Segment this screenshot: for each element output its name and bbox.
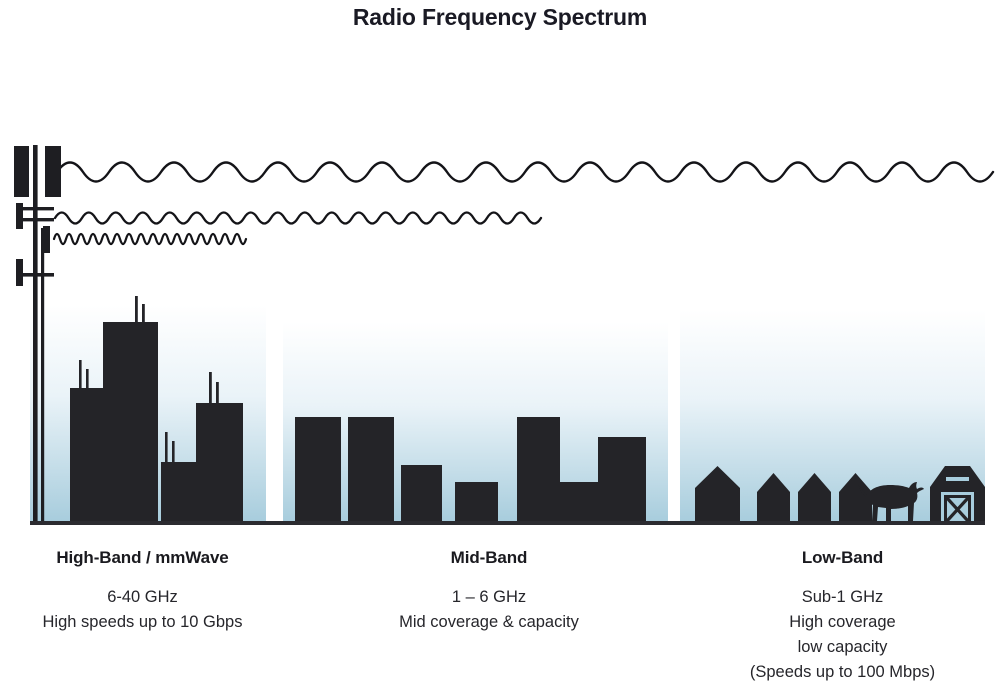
building-spire	[172, 441, 175, 465]
suburb-building	[348, 417, 394, 521]
tower-mast-left	[33, 145, 38, 521]
building-spire	[165, 432, 168, 464]
building-spire	[79, 360, 82, 390]
low-band-details: Sub-1 GHz High coverage low capacity (Sp…	[700, 585, 985, 685]
building-spire	[135, 296, 138, 324]
suburb-building	[517, 417, 560, 521]
building-spire	[216, 382, 219, 406]
tower-antenna-panel-small-left	[16, 203, 23, 229]
tower-antenna-panel-large-left	[14, 146, 29, 197]
city-building	[103, 322, 158, 521]
high-band-heading: High-Band / mmWave	[0, 548, 285, 568]
building-spire	[142, 304, 145, 324]
low-band-capacity: low capacity	[700, 635, 985, 660]
mid-band-frequency: 1 – 6 GHz	[358, 585, 620, 610]
high-band-speed: High speeds up to 10 Gbps	[0, 610, 285, 635]
tower-mast-right	[41, 228, 44, 521]
building-spire	[209, 372, 212, 405]
barn-window	[946, 477, 969, 481]
high-band-caption: High-Band / mmWave 6-40 GHz High speeds …	[0, 548, 285, 635]
low-band-coverage: High coverage	[700, 610, 985, 635]
tower-crossbar-mid	[22, 218, 54, 221]
tower-crossbar-lower	[22, 273, 54, 277]
ground-line	[30, 521, 985, 525]
tower-crossbar-upper	[22, 207, 54, 210]
tower-antenna-panel-large-right	[45, 146, 61, 197]
low-band-heading: Low-Band	[700, 548, 985, 568]
suburb-building	[401, 465, 442, 521]
low-band-frequency: Sub-1 GHz	[700, 585, 985, 610]
tower-antenna-panel-bottom	[16, 259, 23, 286]
mid-band-caption: Mid-Band 1 – 6 GHz Mid coverage & capaci…	[358, 548, 620, 635]
suburb-building	[295, 417, 341, 521]
suburb-building	[598, 437, 646, 521]
high-band-frequency: 6-40 GHz	[0, 585, 285, 610]
suburb-building	[455, 482, 498, 521]
medium-wavelength-wave	[55, 213, 541, 224]
mid-band-coverage: Mid coverage & capacity	[358, 610, 620, 635]
high-band-details: 6-40 GHz High speeds up to 10 Gbps	[0, 585, 285, 635]
low-band-speed: (Speeds up to 100 Mbps)	[700, 660, 985, 685]
low-band-caption: Low-Band Sub-1 GHz High coverage low cap…	[700, 548, 985, 685]
city-building	[196, 403, 243, 521]
suburb-building	[560, 482, 598, 521]
tower-antenna-panel-small-right	[43, 226, 50, 253]
mid-band-heading: Mid-Band	[358, 548, 620, 568]
building-spire	[86, 369, 89, 391]
infographic-canvas: Radio Frequency Spectrum	[0, 0, 1000, 700]
mid-band-details: 1 – 6 GHz Mid coverage & capacity	[358, 585, 620, 635]
short-wavelength-wave	[54, 234, 246, 244]
long-wavelength-wave	[57, 163, 993, 182]
